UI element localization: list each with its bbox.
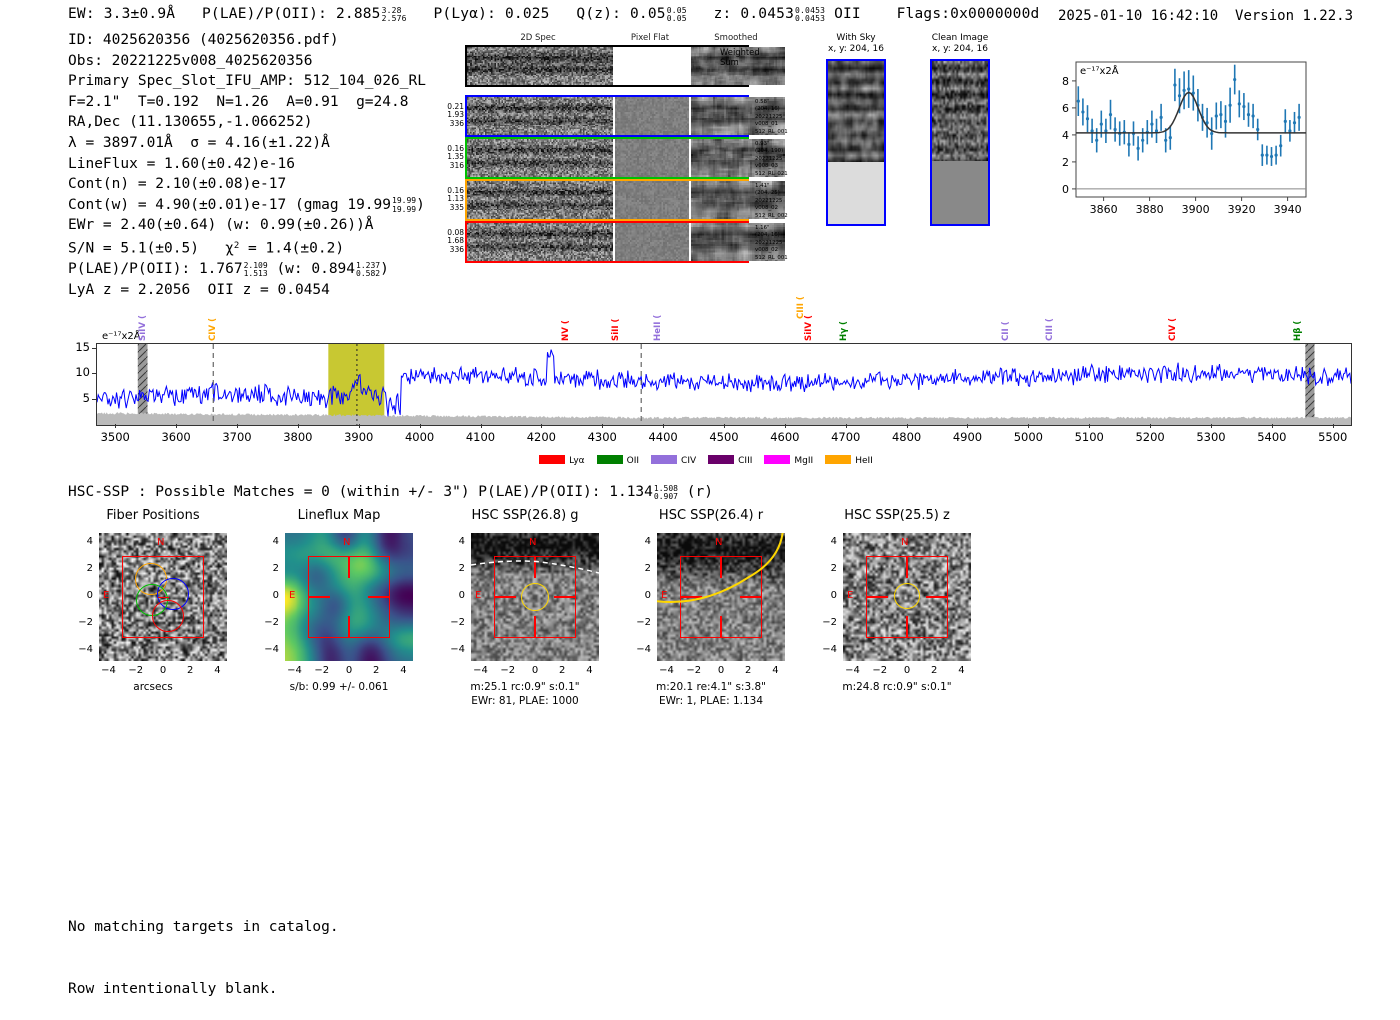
spectrum-x-tick: 4800 (872, 430, 942, 444)
panel-x-tick: 4 (949, 665, 973, 676)
spectrum-x-tick: 4900 (932, 430, 1002, 444)
plae-lo: 2.576 (382, 15, 407, 23)
ew-label: EW: (68, 6, 95, 22)
compass-east: E (289, 590, 295, 601)
panel-y-tick: −2 (434, 617, 465, 628)
panel-y-tick: 0 (620, 590, 651, 601)
info-line: F=2.1" T=0.192 N=1.26 A=0.91 g=24.8 (68, 92, 426, 113)
panel-title: HSC SSP(26.4) r (620, 508, 802, 523)
fiber-meta-right: 1.41"(204, 25)20221225v008_02512_RL_002 (755, 183, 815, 220)
summary-header: EW: 3.3±0.9Å P(LAE)/P(OII): 2.8853.282.5… (68, 6, 1039, 23)
panel-y-tick: −4 (806, 644, 837, 655)
emission-line-label: SiIV ( (804, 305, 814, 341)
spectrum-x-tickmark (481, 424, 482, 428)
panel-image: NE (99, 533, 227, 661)
panel-caption-2: EWr: 81, PLAE: 1000 (434, 695, 616, 708)
panel-x-tick: −4 (841, 665, 865, 676)
info-line: λ = 3897.01Å σ = 4.16(±1.22)Å (68, 133, 426, 154)
panel-x-tick: 0 (895, 665, 919, 676)
spectrum-x-tick: 3500 (80, 430, 150, 444)
panel-x-tick: 4 (763, 665, 787, 676)
panel-x-tick: 0 (709, 665, 733, 676)
montage-fiber-row: 0.211.933360.58"(204, 16)20221225v008_01… (465, 95, 749, 137)
emission-line-fit-chart: 0246838603880390039203940e⁻¹⁷x2Å (1040, 52, 1312, 227)
ew-value: 3.3±0.9Å (104, 6, 175, 22)
panel-caption: s/b: 0.99 +/- 0.061 (248, 681, 430, 694)
fiber-meta-right: 0.93"(204, 190)20221225v008_03512_RL_021 (755, 141, 815, 178)
spectrum-x-tick: 5000 (993, 430, 1063, 444)
info-line: LineFlux = 1.60(±0.42)e-16 (68, 154, 426, 175)
flags-value: Flags:0x0000000d (897, 6, 1040, 22)
full-spectrum-chart (96, 343, 1352, 426)
panel-caption: m:20.1 re:4.1" s:3.8" (620, 681, 802, 694)
crosshair-arm (906, 556, 907, 578)
panel-x-tick: −2 (868, 665, 892, 676)
montage-cell (615, 97, 689, 135)
cutout-coords: x, y: 204, 16 (900, 44, 1020, 55)
spectrum-y-tickmark (92, 399, 96, 400)
weighted-sum-row (465, 45, 749, 87)
panel-y-tick: 4 (248, 536, 279, 547)
panel-x-tick: −2 (682, 665, 706, 676)
hsc-headline: HSC-SSP : Possible Matches = 0 (within +… (68, 484, 713, 501)
montage-cell (615, 181, 689, 219)
fiber-meta: v008_03 (755, 163, 815, 170)
z-value: 0.0453 (740, 6, 794, 22)
panel-y-tick: 2 (620, 563, 651, 574)
spectrum-x-tick: 3600 (141, 430, 211, 444)
spectrum-y-tickmark (92, 348, 96, 349)
panel-y-tick: −4 (62, 644, 93, 655)
cont-w-text: Cont(w) = 4.90(±0.01)e-17 (gmag 19.99 (68, 197, 391, 213)
crosshair-arm (906, 616, 907, 638)
info-line: Primary Spec_Slot_IFU_AMP: 512_104_026_R… (68, 71, 426, 92)
timestamp: 2025-01-10 16:42:10 (1058, 8, 1218, 24)
info-line: Obs: 20221225v008_4025620356 (68, 51, 426, 72)
spectrum-x-tick: 4400 (628, 430, 698, 444)
spectrum-trace (97, 350, 1351, 417)
gmag-lo: 19.99 (392, 206, 416, 214)
panel-y-tick: 4 (62, 536, 93, 547)
inset-y-tick: 6 (1062, 102, 1069, 115)
compass-north: N (343, 537, 350, 548)
fiber-meta: 20221225 (755, 114, 815, 121)
montage-cell (615, 223, 689, 261)
info-ewr: EWr = 2.40(±0.64) (w: 0.99(±0.26))Å (68, 215, 426, 236)
cutout-coords: x, y: 204, 16 (796, 44, 916, 55)
spectrum-x-tick: 4700 (811, 430, 881, 444)
z-species: OII (834, 6, 861, 22)
spectrum-svg (97, 344, 1351, 425)
spectrum-x-tickmark (115, 424, 116, 428)
spectrum-x-tickmark (1089, 424, 1090, 428)
spectrum-x-tickmark (541, 424, 542, 428)
crosshair-arm (866, 596, 888, 597)
crosshair-arm (368, 596, 390, 597)
inset-x-tick: 3860 (1090, 203, 1118, 216)
spectrum-x-tickmark (176, 424, 177, 428)
spectrum-x-tick: 5200 (1115, 430, 1185, 444)
spectrum-x-tick: 4200 (506, 430, 576, 444)
plae-w-lo: 0.582 (356, 270, 380, 278)
panel-y-tick: 4 (620, 536, 651, 547)
compass-east: E (103, 590, 109, 601)
panel-y-tick: −4 (434, 644, 465, 655)
fiber-meta: 0.93" (755, 141, 815, 148)
montage-col-header: Smoothed (706, 33, 766, 43)
spectrum-units-label: e⁻¹⁷x2Å (102, 331, 141, 342)
inset-y-tick: 4 (1062, 129, 1069, 142)
plae-value: 2.885 (336, 6, 381, 22)
plae-close: ) (380, 261, 389, 277)
spectrum-x-tickmark (785, 424, 786, 428)
montage-fiber-row: 0.081.683361.16"(204, 16)20221225v008_02… (465, 221, 749, 263)
emission-line-label: SiIV ( (138, 305, 148, 341)
fiber-meta-right: 1.16"(204, 16)20221225v008_02512_RL_001 (755, 225, 815, 262)
fiber-meta: (204, 25) (755, 190, 815, 197)
legend-label: Lyα (569, 456, 584, 466)
masked-band (138, 344, 148, 425)
fiber-stat: 316 (434, 162, 464, 170)
fiber-meta-right: 0.58"(204, 16)20221225v008_01512_RL_001 (755, 99, 815, 136)
fiber-meta: 20221225 (755, 198, 815, 205)
inset-x-tick: 3920 (1228, 203, 1256, 216)
masked-band (1305, 344, 1314, 425)
emission-line-svg: 0246838603880390039203940e⁻¹⁷x2Å (1040, 52, 1312, 227)
crosshair-arm (348, 616, 349, 638)
legend-swatch (539, 455, 565, 464)
fiber-meta: v008_02 (755, 247, 815, 254)
spectrum-x-tickmark (663, 424, 664, 428)
inset-x-tick: 3900 (1182, 203, 1210, 216)
emission-line-label: Hγ ( (839, 305, 849, 341)
panel-image: NE (471, 533, 599, 661)
fiber-meta: 512_RL_001 (755, 129, 815, 136)
info-line: ID: 4025620356 (4025620356.pdf) (68, 30, 426, 51)
legend-label: HeII (855, 456, 873, 466)
spectrum-x-tick: 5400 (1237, 430, 1307, 444)
emission-line-label: NV ( (561, 305, 571, 341)
inset-units-label: e⁻¹⁷x2Å (1080, 64, 1119, 77)
spectrum-x-tickmark (237, 424, 238, 428)
cutout-image (930, 59, 990, 226)
footer-line: No matching targets in catalog. (68, 917, 339, 938)
montage-cell (467, 47, 613, 85)
spectrum-y-tick: 10 (62, 365, 90, 379)
panel-y-tick: −2 (248, 617, 279, 628)
version: Version 1.22.3 (1235, 8, 1353, 24)
z-lo: 0.0453 (795, 15, 825, 23)
fiber-stats-left: 0.161.13335 (434, 187, 464, 212)
spectrum-x-tickmark (1272, 424, 1273, 428)
emission-line-label: HeII ( (653, 305, 663, 341)
spectrum-x-tickmark (359, 424, 360, 428)
inset-x-tick: 3880 (1136, 203, 1164, 216)
panel-title: HSC SSP(25.5) z (806, 508, 988, 523)
inset-y-tick: 2 (1062, 156, 1069, 169)
plya-label: P(Lyα): (434, 6, 497, 22)
compass-east: E (847, 590, 853, 601)
fiber-stat: 335 (434, 204, 464, 212)
panel-caption: m:25.1 rc:0.9" s:0.1" (434, 681, 616, 694)
panel-x-tick: −2 (124, 665, 148, 676)
montage-cell (467, 223, 613, 261)
panel-x-tick: −4 (97, 665, 121, 676)
cutout-title-text: With Sky (796, 33, 916, 44)
plae-text: P(LAE)/P(OII): 1.767 (68, 261, 243, 277)
panel-x-tick: −2 (496, 665, 520, 676)
legend-swatch (825, 455, 851, 464)
montage-cell (467, 97, 613, 135)
source-circle (894, 583, 920, 609)
panel-x-tick: 4 (391, 665, 415, 676)
spectrum-y-tickmark (92, 373, 96, 374)
crosshair-arm (348, 556, 349, 578)
spectrum-x-tickmark (907, 424, 908, 428)
spectrum-x-tickmark (1028, 424, 1029, 428)
spectrum-x-tickmark (298, 424, 299, 428)
panel-y-tick: 4 (434, 536, 465, 547)
highlight-band (328, 344, 384, 425)
hsc-plae-lo: 0.907 (654, 493, 678, 501)
cutout-flat-region (932, 161, 988, 224)
cutout-image (826, 59, 886, 226)
fiber-stat: 336 (434, 120, 464, 128)
crosshair-arm (308, 596, 330, 597)
info-plae: P(LAE)/P(OII): 1.7672.1091.513 (w: 0.894… (68, 259, 426, 280)
panel-y-tick: 2 (248, 563, 279, 574)
cutout-title-text: Clean Image (900, 33, 1020, 44)
cutout-title: Clean Imagex, y: 204, 16 (900, 33, 1020, 55)
fiber-stat: 336 (434, 246, 464, 254)
spectrum-x-tick: 4000 (385, 430, 455, 444)
fiber-meta: 512_RL_002 (755, 213, 815, 220)
hsc-headline-band: (r) (687, 484, 713, 500)
panel-y-tick: 2 (434, 563, 465, 574)
montage-cell (467, 181, 613, 219)
spectrum-plot-area (96, 343, 1352, 426)
plae-lo: 1.513 (244, 270, 268, 278)
panel-title: HSC SSP(26.8) g (434, 508, 616, 523)
montage-col-header: 2D Spec (508, 33, 568, 43)
spectrum-x-tick: 5500 (1298, 430, 1368, 444)
spectrum-x-tick: 4100 (446, 430, 516, 444)
panel-y-tick: 0 (806, 590, 837, 601)
fiber-stats-left: 0.211.93336 (434, 103, 464, 128)
spectrum-x-tick: 4300 (567, 430, 637, 444)
spectrum-x-tickmark (1333, 424, 1334, 428)
fiber-meta: (204, 190) (755, 148, 815, 155)
panel-x-tick: −2 (310, 665, 334, 676)
spectrum-x-tickmark (846, 424, 847, 428)
fiber-meta: v008_02 (755, 205, 815, 212)
fiber-meta: 20221225 (755, 156, 815, 163)
footer-notes: No matching targets in catalog. Row inte… (68, 876, 339, 1020)
cont-w-close: ) (416, 197, 425, 213)
legend-label: CIII (738, 456, 752, 466)
emission-line-label: Hβ ( (1293, 305, 1303, 341)
panel-caption: m:24.8 rc:0.9" s:0.1" (806, 681, 988, 694)
panel-x-tick: −4 (283, 665, 307, 676)
spectrum-y-tick: 5 (62, 391, 90, 405)
fiber-meta: (204, 16) (755, 106, 815, 113)
legend-label: MgII (794, 456, 813, 466)
chi-symbol: χ (225, 240, 234, 256)
spectrum-x-tickmark (967, 424, 968, 428)
spectrum-x-tick: 5100 (1054, 430, 1124, 444)
panel-x-tick: 4 (205, 665, 229, 676)
legend-swatch (597, 455, 623, 464)
legend-swatch (651, 455, 677, 464)
panel-title: Fiber Positions (62, 508, 244, 523)
fiber-meta: 512_RL_021 (755, 171, 815, 178)
spectrum-x-tick: 3700 (202, 430, 272, 444)
hsc-headline-text: HSC-SSP : Possible Matches = 0 (within +… (68, 484, 653, 500)
panel-x-tick: −4 (655, 665, 679, 676)
panel-image: NE (657, 533, 785, 661)
compass-north: N (157, 537, 164, 548)
info-line: RA,Dec (11.130655,-1.066252) (68, 112, 426, 133)
cutout-flat-region (828, 162, 884, 224)
z-label: z: (714, 6, 732, 22)
panel-x-tick: 0 (151, 665, 175, 676)
emission-line-label: SiII ( (611, 305, 621, 341)
fiber-meta: (204, 16) (755, 232, 815, 239)
chi-value: = 1.4(±0.2) (239, 240, 344, 256)
spectrum-x-tickmark (420, 424, 421, 428)
legend-label: OII (627, 456, 639, 466)
info-cont-w: Cont(w) = 4.90(±0.01)e-17 (gmag 19.9919.… (68, 195, 426, 216)
panel-y-tick: −2 (62, 617, 93, 628)
fiber-stats-left: 0.081.68336 (434, 229, 464, 254)
panel-y-tick: 0 (62, 590, 93, 601)
legend-label: CIV (681, 456, 696, 466)
panel-x-tick: 2 (922, 665, 946, 676)
qz-value: 0.05 (630, 6, 666, 22)
info-line: Cont(n) = 2.10(±0.08)e-17 (68, 174, 426, 195)
spectrum-legend: LyαOIICIVCIIIMgIIHeII (0, 455, 1400, 466)
spectrum-x-tick: 3800 (263, 430, 333, 444)
legend-swatch (708, 455, 734, 464)
plae-w-text: (w: 0.894 (276, 261, 355, 277)
mask-edge-line (471, 533, 599, 661)
panel-y-tick: 4 (806, 536, 837, 547)
montage-cell (615, 139, 689, 177)
panel-x-tick: 2 (178, 665, 202, 676)
fiber-meta: 20221225 (755, 240, 815, 247)
fiber-meta: 512_RL_001 (755, 255, 815, 262)
montage-col-header: Pixel Flat (620, 33, 680, 43)
panel-x-tick: 0 (523, 665, 547, 676)
panel-y-tick: 2 (806, 563, 837, 574)
panel-y-tick: 0 (434, 590, 465, 601)
panel-x-tick: 0 (337, 665, 361, 676)
plya-value: 0.025 (505, 6, 550, 22)
fiber-stats-left: 0.161.35316 (434, 145, 464, 170)
emission-line-label: CIV ( (1168, 305, 1178, 341)
fiber-meta: 0.58" (755, 99, 815, 106)
2d-spec-montage: 2D SpecPixel FlatSmoothedWeighted Sum0.2… (432, 33, 792, 258)
info-sn: S/N = 5.1(±0.5) χ2 = 1.4(±0.2) (68, 236, 426, 259)
spectrum-x-tickmark (602, 424, 603, 428)
spectrum-x-tickmark (724, 424, 725, 428)
plae-label: P(LAE)/P(OII): (202, 6, 327, 22)
panel-y-tick: −2 (806, 617, 837, 628)
montage-cell (467, 139, 613, 177)
spectrum-x-tickmark (1211, 424, 1212, 428)
panel-y-tick: 2 (62, 563, 93, 574)
qz-label: Q(z): (576, 6, 621, 22)
weighted-sum-label: Weighted Sum (720, 47, 780, 67)
fiber-meta: v008_01 (755, 121, 815, 128)
panel-xlabel: arcsecs (62, 681, 244, 694)
panel-image: NE (843, 533, 971, 661)
panel-image: NE (285, 533, 413, 661)
panel-y-tick: −2 (620, 617, 651, 628)
timestamp-version: 2025-01-10 16:42:10 Version 1.22.3 (1058, 8, 1353, 24)
cutout-title: With Skyx, y: 204, 16 (796, 33, 916, 55)
spectrum-x-tick: 4500 (689, 430, 759, 444)
panel-y-tick: 0 (248, 590, 279, 601)
fiber-meta: 1.41" (755, 183, 815, 190)
inset-y-tick: 8 (1062, 75, 1069, 88)
emission-line-label: CIV ( (208, 305, 218, 341)
source-ellipse (657, 533, 785, 661)
emission-line-label: CII ( (1001, 305, 1011, 341)
panel-title: Lineflux Map (248, 508, 430, 523)
spectrum-x-tick: 5300 (1176, 430, 1246, 444)
emission-line-label: CIII ( (1045, 305, 1055, 341)
sn-text: S/N = 5.1(±0.5) (68, 240, 225, 256)
panel-x-tick: 2 (736, 665, 760, 676)
info-redshifts: LyA z = 2.2056 OII z = 0.0454 (68, 280, 426, 301)
compass-north: N (901, 537, 908, 548)
inset-y-tick: 0 (1062, 183, 1069, 196)
spectrum-x-tickmark (1150, 424, 1151, 428)
panel-x-tick: 4 (577, 665, 601, 676)
montage-fiber-row: 0.161.353160.93"(204, 190)20221225v008_0… (465, 137, 749, 179)
panel-y-tick: −4 (620, 644, 651, 655)
qz-lo: 0.05 (667, 15, 687, 23)
panel-y-tick: −4 (248, 644, 279, 655)
spectrum-x-tick: 3900 (324, 430, 394, 444)
panel-x-tick: 2 (550, 665, 574, 676)
fiber-meta: 1.16" (755, 225, 815, 232)
montage-fiber-row: 0.161.133351.41"(204, 25)20221225v008_02… (465, 179, 749, 221)
spectrum-x-tick: 4600 (750, 430, 820, 444)
center-marker (158, 597, 169, 598)
fiber-circle (152, 600, 184, 632)
panel-caption-2: EWr: 1, PLAE: 1.134 (620, 695, 802, 708)
footer-line: Row intentionally blank. (68, 979, 339, 1000)
source-info-block: ID: 4025620356 (4025620356.pdf) Obs: 202… (68, 30, 426, 300)
panel-x-tick: 2 (364, 665, 388, 676)
legend-swatch (764, 455, 790, 464)
panel-x-tick: −4 (469, 665, 493, 676)
inset-x-tick: 3940 (1274, 203, 1302, 216)
crosshair-arm (926, 596, 948, 597)
spectrum-y-tick: 15 (62, 340, 90, 354)
